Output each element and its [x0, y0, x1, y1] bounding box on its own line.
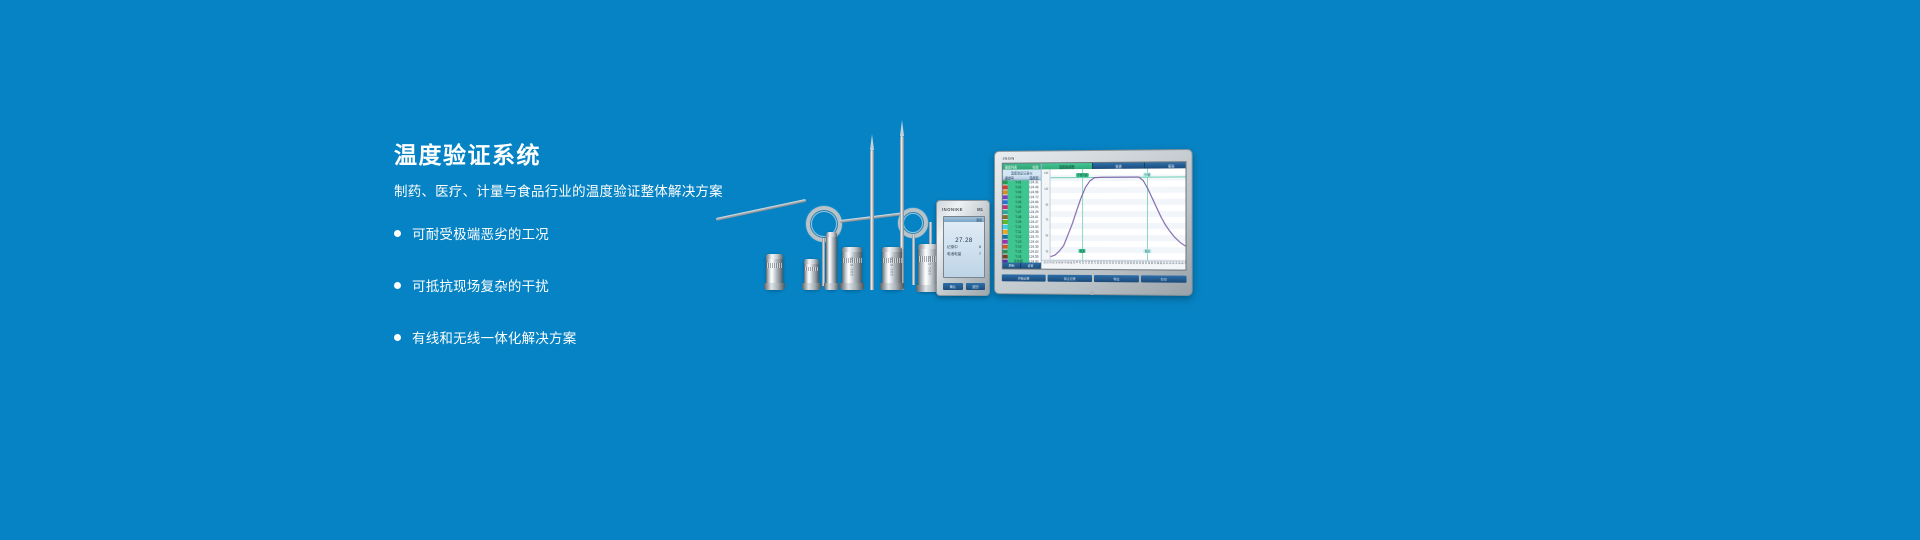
chart-y-tick: 50	[1046, 235, 1049, 238]
logger-mid-1: WLS-200	[842, 247, 862, 290]
bullet-dot-icon	[394, 230, 401, 237]
feature-item-2: 有线和无线一体化解决方案	[394, 324, 814, 350]
logger-label: WLS-200	[890, 257, 895, 277]
chart-y-tick: 70	[1046, 219, 1049, 222]
handheld-titlebar-label: 温度	[976, 218, 982, 222]
chart-y-tick: 110	[1044, 187, 1048, 190]
stop-record-button[interactable]: 停止记录	[1048, 275, 1092, 282]
settings-button[interactable]: 设置	[1022, 263, 1041, 269]
logger-small-1	[766, 254, 783, 290]
handheld-row-value: 8	[979, 244, 981, 251]
monitor-stand-screw	[1090, 291, 1094, 295]
column-header-value: 温度值	[1029, 175, 1038, 180]
chart-y-axis: 13011090705030	[1041, 169, 1050, 259]
handheld-row: 电池电量 7	[944, 251, 984, 258]
logger-label: WLS-200	[850, 257, 855, 277]
chart-x-axis: 0001020304050607080910111213141516171819…	[1041, 260, 1186, 270]
feature-label: 可耐受极端恶劣的工况	[412, 223, 549, 243]
product-photo-group: WLS-200 WLS-200 WLS-500 INONIKE	[700, 120, 1260, 320]
handheld-back-button[interactable]: 返回	[966, 283, 986, 290]
handheld-brand-label: INONIKE	[942, 207, 963, 212]
bullet-dot-icon	[394, 282, 401, 289]
chart-area: 13011090705030 开始灭菌 F0值 结束 阶段	[1041, 168, 1186, 260]
handheld-reader[interactable]: INONIKE M1 温度 27.28 记录中 8 电池电量 7 确认 返回	[936, 200, 990, 296]
validation-software-monitor[interactable]: INON 通道列表 在线 温度验证记录仪 通道号 温度值 T-01124.31T…	[994, 149, 1193, 296]
logger-large-stem	[929, 222, 932, 246]
monitor-toolbar: 开始记录 停止记录 导出 打印	[1002, 274, 1187, 282]
feature-label: 有线和无线一体化解决方案	[412, 327, 576, 347]
chart-marker-start: 开始灭菌	[1076, 173, 1088, 177]
chart-marker-f0: F0值	[1144, 172, 1152, 176]
handheld-row: 记录中 8	[944, 244, 984, 251]
handheld-row-value: 7	[979, 251, 981, 258]
chart-plot-region: 开始灭菌 F0值 结束 阶段	[1050, 168, 1186, 260]
chart-marker-phase: 阶段	[1144, 249, 1151, 253]
refresh-button[interactable]: 刷新	[1003, 263, 1022, 269]
handheld-confirm-button[interactable]: 确认	[943, 283, 963, 290]
needle-probe-tall	[870, 150, 874, 290]
chart-y-tick: 130	[1044, 172, 1048, 175]
channel-list-footer: 刷新 设置	[1003, 263, 1041, 269]
handheld-row-label: 记录中	[947, 244, 958, 251]
channel-list-rows: T-01124.31T-02124.46T-03124.58T-04124.72…	[1003, 180, 1041, 262]
logger-small-2	[804, 259, 819, 290]
chart-panel: 温度曲线图 报表 报告 13011090705030	[1041, 162, 1186, 270]
handheld-screen: 温度 27.28 记录中 8 电池电量 7	[943, 216, 985, 278]
handheld-model-label: M1	[977, 207, 983, 212]
column-header-channel: 通道号	[1005, 175, 1014, 180]
chart-y-tick: 30	[1046, 250, 1049, 253]
chart-x-tick: 47	[1183, 261, 1186, 264]
hero-banner: 温度验证系统 制药、医疗、计量与食品行业的温度验证整体解决方案 可耐受极端恶劣的…	[0, 0, 1920, 540]
chart-line-series	[1050, 168, 1186, 260]
logger-mid-2: WLS-200	[882, 247, 902, 290]
handheld-button-row: 确认 返回	[943, 283, 985, 290]
bullet-dot-icon	[394, 334, 401, 341]
print-button[interactable]: 打印	[1141, 275, 1187, 282]
monitor-brand-label: INON	[1003, 156, 1015, 161]
export-button[interactable]: 导出	[1094, 275, 1139, 282]
logger-slim	[826, 232, 837, 290]
channel-list-header-left: 通道列表	[1005, 164, 1017, 169]
channel-list-header-right: 在线	[1032, 164, 1038, 169]
channel-list-panel: 通道列表 在线 温度验证记录仪 通道号 温度值 T-01124.31T-0212…	[1003, 163, 1042, 268]
chart-marker-end: 结束	[1079, 249, 1086, 253]
start-record-button[interactable]: 开始记录	[1002, 274, 1046, 281]
handheld-row-label: 电池电量	[947, 251, 961, 258]
monitor-screen: 通道列表 在线 温度验证记录仪 通道号 温度值 T-01124.31T-0212…	[1002, 161, 1187, 270]
logger-label: WLS-500	[928, 254, 933, 278]
chart-y-tick: 90	[1046, 203, 1049, 206]
feature-label: 可抵抗现场复杂的干扰	[412, 275, 549, 295]
handheld-titlebar: 温度	[944, 217, 984, 222]
